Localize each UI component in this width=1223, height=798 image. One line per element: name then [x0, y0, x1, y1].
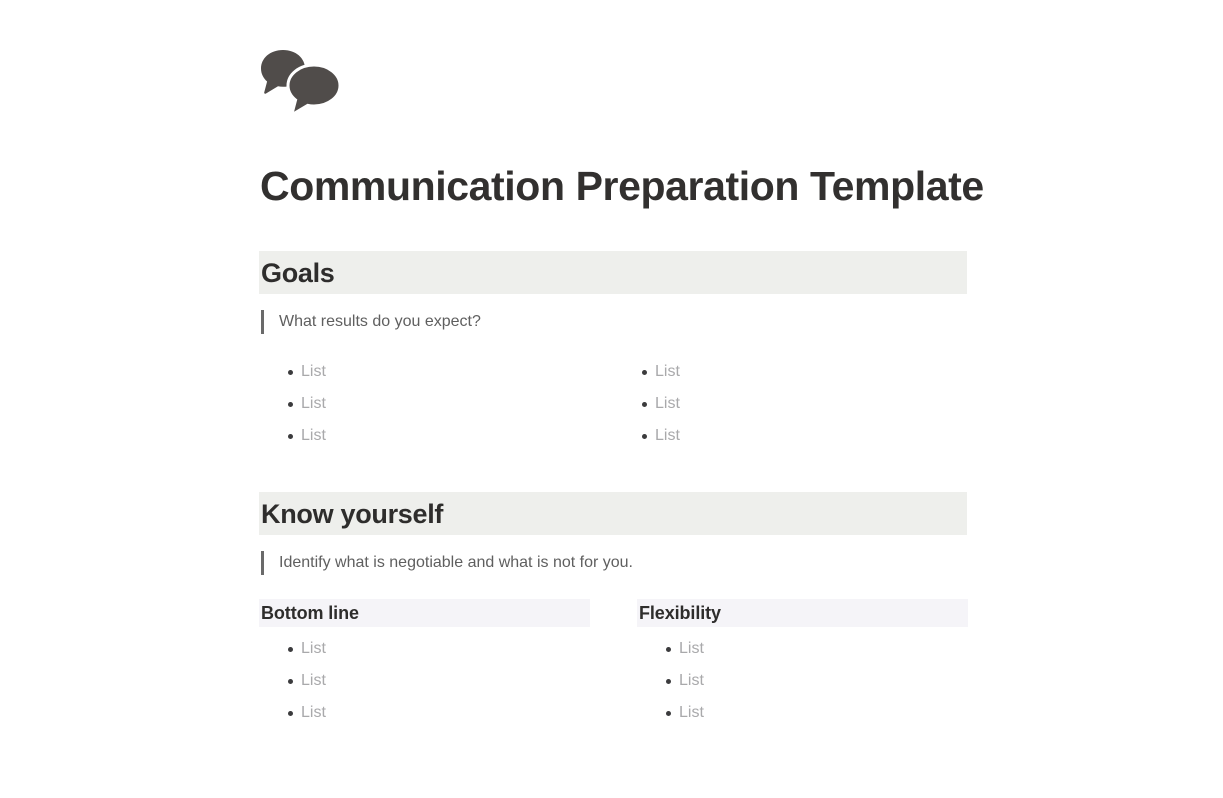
section-know-yourself-heading-band: Know yourself	[259, 492, 967, 535]
subsection-bottom-line-title: Bottom line	[261, 602, 359, 624]
list-item[interactable]: List	[259, 388, 613, 420]
speech-bubbles-icon	[259, 48, 343, 114]
list-item-text: List	[655, 363, 680, 380]
list-item[interactable]: List	[637, 697, 967, 729]
list-item[interactable]: List	[613, 356, 967, 388]
list-item-text: List	[301, 672, 326, 689]
list-item[interactable]: List	[259, 697, 637, 729]
bullet-icon	[642, 434, 647, 439]
section-goals-callout: What results do you expect?	[259, 310, 967, 334]
list-item-text: List	[301, 704, 326, 721]
list-item[interactable]: List	[259, 420, 613, 452]
bullet-icon	[288, 402, 293, 407]
section-goals-heading-band: Goals	[259, 251, 967, 294]
section-goals-column-right: List List List	[613, 356, 967, 452]
bullet-icon	[288, 370, 293, 375]
callout-bar	[261, 310, 264, 334]
flexibility-list: List List List	[637, 633, 967, 729]
list-item-text: List	[301, 640, 326, 657]
list-item-text: List	[301, 363, 326, 380]
bottom-line-list: List List List	[259, 633, 637, 729]
list-item-text: List	[301, 395, 326, 412]
list-item[interactable]: List	[259, 665, 637, 697]
section-know-yourself: Know yourself Identify what is negotiabl…	[259, 492, 967, 729]
subsection-flexibility-title: Flexibility	[639, 602, 721, 624]
list-item[interactable]: List	[613, 388, 967, 420]
list-item[interactable]: List	[259, 633, 637, 665]
section-goals-callout-text: What results do you expect?	[279, 310, 481, 334]
bullet-icon	[666, 711, 671, 716]
list-item-text: List	[679, 640, 704, 657]
subsection-bottom-line-heading-band: Bottom line	[259, 599, 590, 627]
bullet-icon	[666, 679, 671, 684]
section-goals: Goals What results do you expect? List	[259, 251, 967, 452]
section-goals-columns: List List List	[259, 356, 967, 452]
section-goals-title: Goals	[261, 258, 335, 288]
callout-bar	[261, 551, 264, 575]
section-goals-column-left: List List List	[259, 356, 613, 452]
list-item[interactable]: List	[259, 356, 613, 388]
list-item-text: List	[679, 704, 704, 721]
document-body: Communication Preparation Template Goals…	[259, 0, 967, 114]
bullet-icon	[288, 647, 293, 652]
bullet-icon	[642, 370, 647, 375]
page-title: Communication Preparation Template	[260, 160, 984, 212]
list-item-text: List	[301, 427, 326, 444]
section-know-yourself-callout: Identify what is negotiable and what is …	[259, 551, 967, 575]
bullet-icon	[288, 679, 293, 684]
list-item[interactable]: List	[637, 665, 967, 697]
list-item-text: List	[679, 672, 704, 689]
section-know-yourself-columns: Bottom line List List List	[259, 599, 967, 729]
goals-right-list: List List List	[613, 356, 967, 452]
subsection-bottom-line: Bottom line List List List	[259, 599, 637, 729]
bullet-icon	[288, 434, 293, 439]
list-item[interactable]: List	[637, 633, 967, 665]
list-item[interactable]: List	[613, 420, 967, 452]
subsection-flexibility: Flexibility List List List	[637, 599, 967, 729]
list-item-text: List	[655, 427, 680, 444]
section-know-yourself-callout-text: Identify what is negotiable and what is …	[279, 551, 633, 575]
document-page: Communication Preparation Template Goals…	[0, 0, 1223, 798]
subsection-flexibility-heading-band: Flexibility	[637, 599, 968, 627]
section-know-yourself-title: Know yourself	[261, 499, 443, 529]
bullet-icon	[288, 711, 293, 716]
bullet-icon	[666, 647, 671, 652]
goals-left-list: List List List	[259, 356, 613, 452]
bullet-icon	[642, 402, 647, 407]
list-item-text: List	[655, 395, 680, 412]
